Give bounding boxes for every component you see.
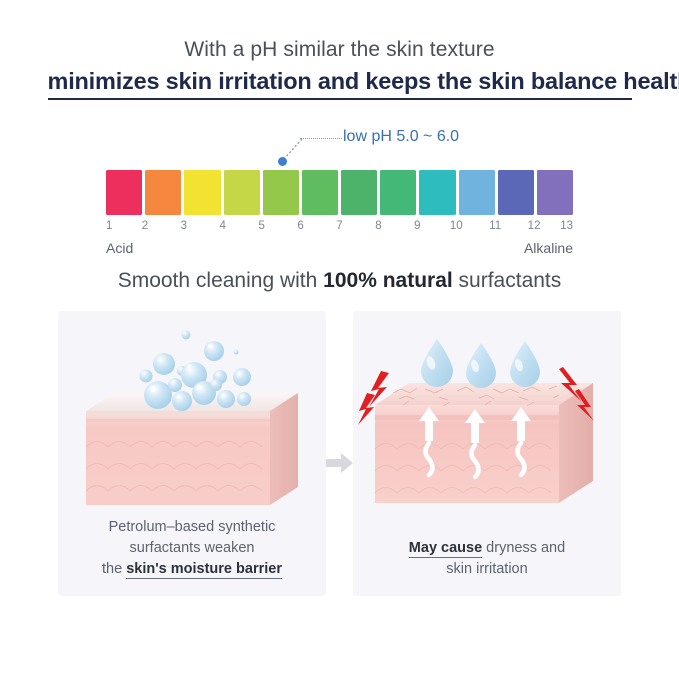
caption-emphasis: May cause [409,540,482,558]
ph-tick-1: 1 [106,220,112,232]
ph-swatch-10 [459,170,495,215]
ph-tick-5: 5 [258,220,264,232]
ph-tick-13: 13 [560,220,573,232]
ph-tick-12: 12 [528,220,541,232]
ph-scale-section: low pH 5.0 ~ 6.0 12345678910111213 Acid … [0,128,679,263]
ph-tick-4: 4 [220,220,226,232]
callout-leader-line-horizontal [300,138,342,139]
ph-tick-8: 8 [375,220,381,232]
section-subheading: Smooth cleaning with 100% natural surfac… [0,269,679,293]
panel-left-caption: Petrolum–based synthetic surfactants wea… [58,517,326,580]
panel-dryness-irritation: May cause dryness and skin irritation [353,311,621,596]
ph-alkaline-label: Alkaline [524,240,573,256]
caption-line-1: Petrolum–based synthetic [109,519,276,535]
comparison-panels: Petrolum–based synthetic surfactants wea… [58,311,621,596]
panel-right-caption: May cause dryness and skin irritation [353,538,621,580]
ph-swatch-strip [106,170,573,215]
ph-tick-9: 9 [414,220,420,232]
skin-block-with-foam-bubbles [58,319,326,519]
subheading-emphasis: 100% natural [323,269,453,292]
ph-acid-label: Acid [106,240,133,256]
ph-marker-dot-icon [278,157,287,166]
ph-tick-labels: 12345678910111213 [106,220,573,236]
ph-swatch-8 [380,170,416,215]
right-arrow-icon [326,451,354,475]
caption-line-3-prefix: the [102,561,126,577]
ph-swatch-12 [537,170,573,215]
ph-tick-2: 2 [142,220,148,232]
ph-end-labels: Acid Alkaline [106,240,573,256]
panel-surfactant-effect: Petrolum–based synthetic surfactants wea… [58,311,326,596]
caption-line-2: surfactants weaken [130,540,255,556]
ph-swatch-9 [419,170,455,215]
page-header: With a pH similar the skin texture minim… [0,0,679,100]
skin-block-with-water-loss [353,319,621,519]
caption-line-3-emphasis: skin's moisture barrier [126,561,282,579]
subheading-suffix: surfactants [453,269,562,292]
ph-tick-3: 3 [181,220,187,232]
header-title-underline: minimizes skin irritation and keeps the … [48,68,632,100]
page-title: minimizes skin irritation and keeps the … [48,68,632,95]
water-droplet-group [421,339,540,388]
subheading-prefix: Smooth cleaning with [118,269,323,292]
ph-swatch-11 [498,170,534,215]
ph-swatch-4 [224,170,260,215]
ph-swatch-6 [302,170,338,215]
ph-tick-7: 7 [336,220,342,232]
ph-tick-11: 11 [489,220,501,232]
ph-callout-label: low pH 5.0 ~ 6.0 [343,128,459,146]
ph-swatch-7 [341,170,377,215]
ph-tick-10: 10 [450,220,463,232]
caption-line-2: skin irritation [446,561,527,577]
ph-swatch-2 [145,170,181,215]
caption-line-1-suffix: dryness and [482,540,565,556]
header-subtitle: With a pH similar the skin texture [0,38,679,62]
ph-tick-6: 6 [297,220,303,232]
ph-swatch-5 [263,170,299,215]
ph-swatch-1 [106,170,142,215]
ph-swatch-3 [184,170,220,215]
